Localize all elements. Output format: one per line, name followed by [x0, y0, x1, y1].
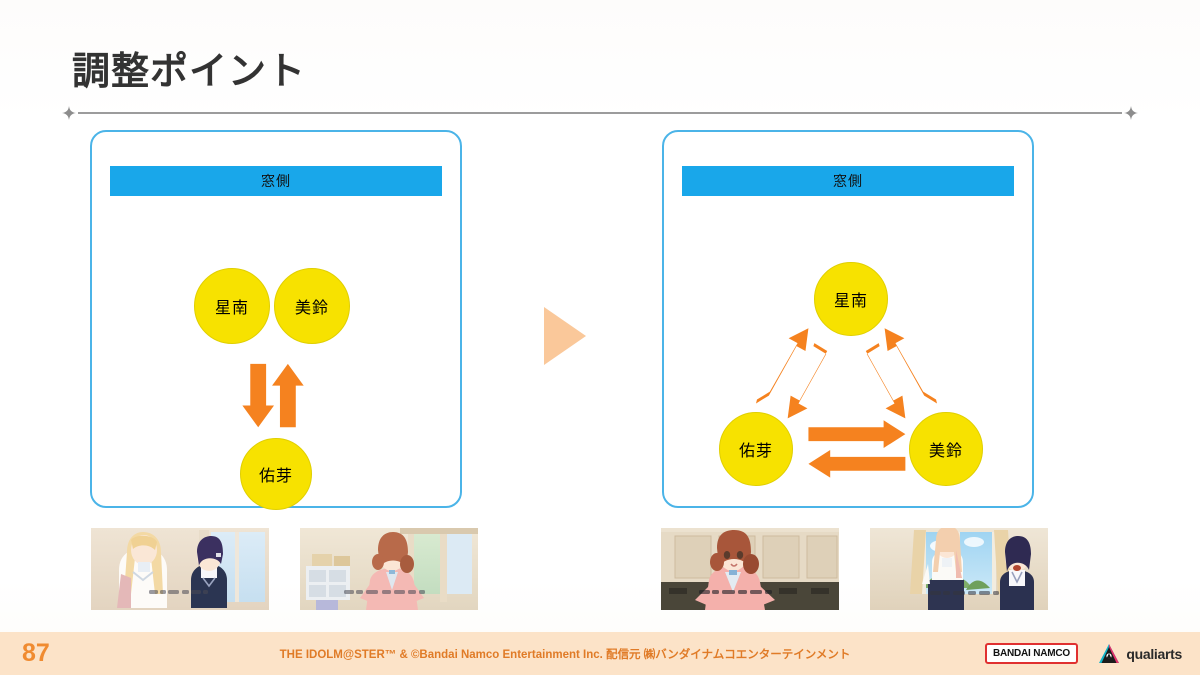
diamond-icon	[1124, 106, 1138, 120]
node-yume[interactable]: 佑芽	[240, 438, 312, 510]
arrow-yume-to-seina	[756, 328, 808, 403]
after-diagram: 星南 佑芽 美鈴	[664, 206, 1032, 506]
node-yume[interactable]: 佑芽	[719, 412, 793, 486]
after-panel: 窓側	[662, 130, 1034, 508]
before-panel: 窓側 星南 美鈴 佑芽	[90, 130, 462, 508]
screenshot-auburn-girl-classroom	[300, 528, 478, 610]
bandai-namco-logo: BANDAI NAMCO	[985, 643, 1078, 664]
qualiarts-triangle-icon	[1098, 643, 1120, 665]
copyright-text: THE IDOLM@STER™ & ©Bandai Namco Entertai…	[280, 646, 851, 662]
window-side-label: 窓側	[682, 166, 1014, 196]
node-misuzu[interactable]: 美鈴	[909, 412, 983, 486]
arrow-seina-to-yume	[788, 343, 828, 418]
slide-root: 調整ポイント 窓側	[0, 0, 1200, 675]
node-seina[interactable]: 星南	[814, 262, 888, 336]
play-triangle-icon	[540, 305, 590, 367]
arrow-yume-to-misuzu	[808, 420, 905, 448]
screenshot-blonde-and-navy-girls	[91, 528, 269, 610]
arrow-down	[242, 364, 274, 427]
arrow-misuzu-to-seina	[885, 328, 937, 403]
qualiarts-wordmark: qualiarts	[1126, 646, 1182, 662]
page-title: 調整ポイント	[72, 40, 306, 95]
page-number: 87	[22, 639, 50, 668]
diamond-icon	[62, 106, 76, 120]
title-divider	[60, 104, 1140, 122]
window-side-label: 窓側	[110, 166, 442, 196]
divider-line	[78, 112, 1122, 114]
arrow-misuzu-to-yume	[808, 450, 905, 478]
before-diagram: 星南 美鈴 佑芽	[92, 206, 460, 506]
qualiarts-logo: qualiarts	[1098, 643, 1182, 665]
screenshot-blonde-and-navy-girls-window	[870, 528, 1048, 610]
arrow-up	[272, 364, 304, 427]
arrow-seina-to-misuzu	[866, 343, 906, 418]
footer-bar: 87 THE IDOLM@STER™ & ©Bandai Namco Enter…	[0, 632, 1200, 675]
node-misuzu[interactable]: 美鈴	[274, 268, 350, 344]
screenshot-auburn-girl-blackboard	[661, 528, 839, 610]
node-seina[interactable]: 星南	[194, 268, 270, 344]
